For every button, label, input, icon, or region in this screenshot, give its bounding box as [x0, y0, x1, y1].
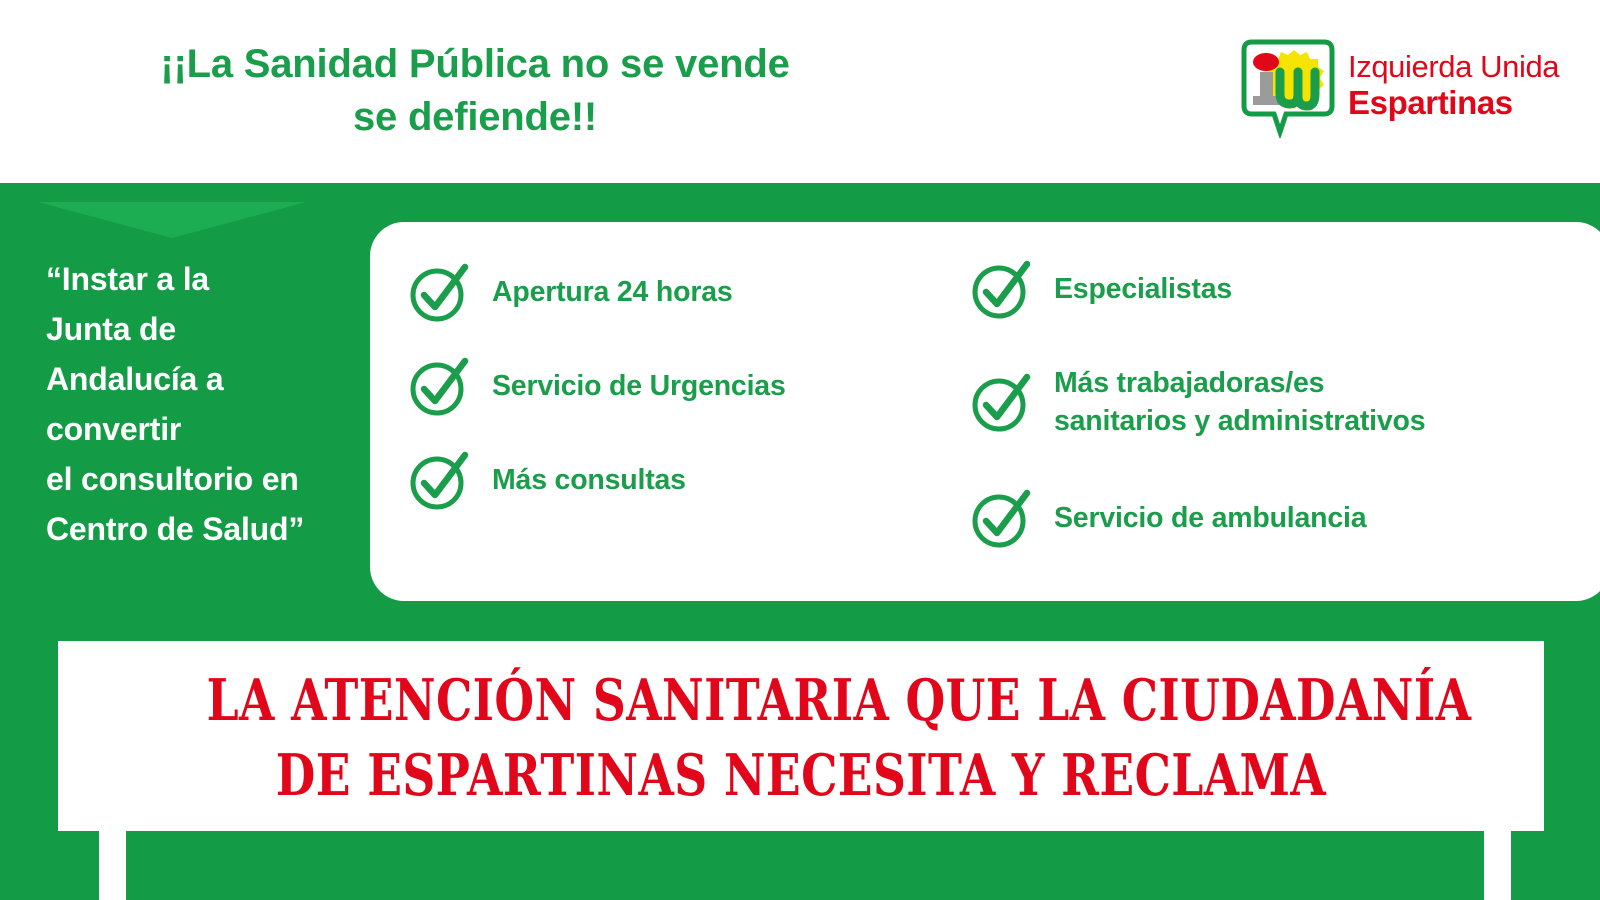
quote-block: “Instar a la Junta de Andalucía a conver…	[46, 255, 356, 554]
list-item-label: Servicio de ambulancia	[1054, 500, 1366, 538]
page-title: ¡¡La Sanidad Pública no se vende se defi…	[60, 38, 890, 144]
slogan-line-2: DE ESPARTINAS NECESITA Y RECLAMA	[207, 738, 1396, 813]
header: ¡¡La Sanidad Pública no se vende se defi…	[0, 0, 1600, 183]
list-item: Más trabajadoras/es sanitarios y adminis…	[970, 365, 1425, 440]
quote-line: el consultorio en	[46, 455, 356, 505]
quote-line: Junta de	[46, 305, 356, 355]
list-item: Servicio de ambulancia	[970, 488, 1366, 550]
demands-card: Apertura 24 horas Servicio de Urgencias	[370, 222, 1600, 601]
headline-line-2: se defiende!!	[60, 91, 890, 144]
list-item-label: Especialistas	[1054, 271, 1232, 309]
list-item: Más consultas	[408, 450, 686, 512]
headline-line-1: ¡¡La Sanidad Pública no se vende	[60, 38, 890, 91]
chevron-down-icon	[38, 202, 306, 238]
slogan-line-1: LA ATENCIÓN SANITARIA QUE LA CIUDADANÍA	[207, 663, 1396, 738]
check-circle-icon	[408, 356, 470, 418]
slogan-text: LA ATENCIÓN SANITARIA QUE LA CIUDADANÍA …	[207, 663, 1396, 813]
logo-text: Izquierda Unida Espartinas	[1348, 50, 1559, 122]
iu-speech-bubble-logo-icon	[1236, 34, 1340, 138]
logo-locality-name: Espartinas	[1348, 85, 1559, 122]
list-item: Especialistas	[970, 259, 1232, 321]
logo: Izquierda Unida Espartinas	[1236, 34, 1556, 146]
logo-organization-name: Izquierda Unida	[1348, 50, 1559, 85]
check-circle-icon	[408, 450, 470, 512]
list-item: Apertura 24 horas	[408, 262, 733, 324]
list-item: Servicio de Urgencias	[408, 356, 786, 418]
list-item-label: Más trabajadoras/es sanitarios y adminis…	[1054, 365, 1425, 440]
list-item-label: Servicio de Urgencias	[492, 368, 786, 406]
poster-root: ¡¡La Sanidad Pública no se vende se defi…	[0, 0, 1600, 900]
list-item-label: Más consultas	[492, 462, 686, 500]
check-circle-icon	[970, 259, 1032, 321]
check-circle-icon	[970, 488, 1032, 550]
check-circle-icon	[970, 372, 1032, 434]
quote-line: Centro de Salud”	[46, 505, 356, 555]
quote-line: “Instar a la	[46, 255, 356, 305]
quote-line: Andalucía a	[46, 355, 356, 405]
quote-line: convertir	[46, 405, 356, 455]
list-item-label: Apertura 24 horas	[492, 274, 733, 312]
check-circle-icon	[408, 262, 470, 324]
